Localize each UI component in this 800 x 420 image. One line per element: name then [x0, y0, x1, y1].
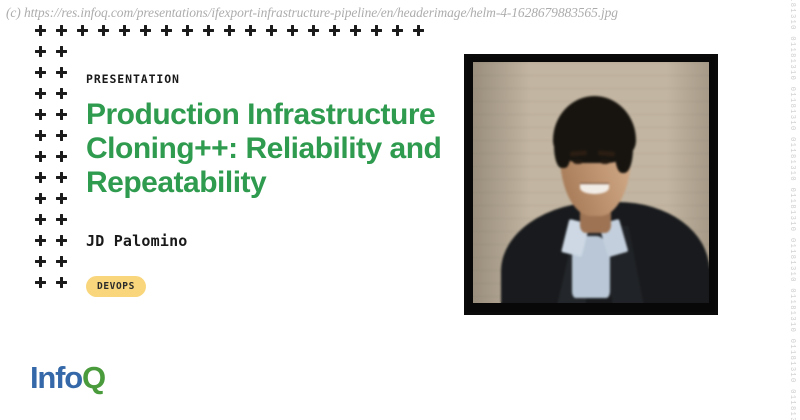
plus-glyph [35, 256, 46, 267]
plus-glyph [287, 25, 298, 36]
plus-glyph [35, 25, 46, 36]
plus-glyph [35, 130, 46, 141]
watermark-side-strip: 01181310 01181310 01181310 01181310 0118… [784, 0, 800, 420]
speaker-name: JD Palomino [86, 232, 446, 250]
tag-devops[interactable]: DEVOPS [86, 276, 146, 297]
plus-glyph [161, 25, 172, 36]
plus-glyph [98, 25, 109, 36]
presentation-header-page: (c) https://res.infoq.com/presentations/… [0, 0, 800, 420]
speaker-photo-frame [464, 54, 718, 315]
plus-glyph [35, 235, 46, 246]
plus-glyph [56, 109, 67, 120]
plus-glyph [56, 193, 67, 204]
plus-glyph [56, 151, 67, 162]
plus-glyph [308, 25, 319, 36]
content-type-label: PRESENTATION [86, 72, 446, 86]
plus-glyph [182, 25, 193, 36]
plus-glyph [329, 25, 340, 36]
plus-glyph [35, 277, 46, 288]
plus-glyph [77, 25, 88, 36]
plus-glyph [413, 25, 424, 36]
plus-glyph [35, 109, 46, 120]
plus-glyph [56, 277, 67, 288]
logo-info-text: Info [30, 360, 82, 395]
plus-glyph [35, 172, 46, 183]
plus-glyph [350, 25, 361, 36]
plus-glyph [56, 172, 67, 183]
plus-glyph [266, 25, 277, 36]
page-title: Production Infrastructure Cloning++: Rel… [86, 98, 446, 200]
plus-glyph [35, 88, 46, 99]
plus-glyph [56, 214, 67, 225]
plus-glyph [56, 130, 67, 141]
plus-glyph [56, 25, 67, 36]
logo-q-text: Q [82, 360, 105, 395]
plus-glyph [203, 25, 214, 36]
infoq-logo[interactable]: InfoQ [30, 362, 105, 393]
plus-glyph [35, 67, 46, 78]
watermark-url-text: (c) https://res.infoq.com/presentations/… [6, 5, 786, 21]
plus-glyph [56, 256, 67, 267]
plus-glyph [224, 25, 235, 36]
plus-glyph [35, 193, 46, 204]
photo-blur-overlay [473, 62, 709, 303]
plus-glyph [56, 46, 67, 57]
watermark-side-text: 01181310 01181310 01181310 01181310 0118… [788, 0, 796, 420]
plus-glyph [245, 25, 256, 36]
header-content: PRESENTATION Production Infrastructure C… [86, 72, 446, 297]
plus-glyph [35, 214, 46, 225]
plus-glyph [35, 46, 46, 57]
plus-glyph [56, 235, 67, 246]
plus-glyph [35, 151, 46, 162]
plus-glyph [56, 88, 67, 99]
speaker-photo [473, 62, 709, 303]
plus-glyph [140, 25, 151, 36]
tag-list: DEVOPS [86, 276, 446, 297]
plus-glyph [392, 25, 403, 36]
plus-glyph [56, 67, 67, 78]
plus-glyph [371, 25, 382, 36]
plus-glyph [119, 25, 130, 36]
